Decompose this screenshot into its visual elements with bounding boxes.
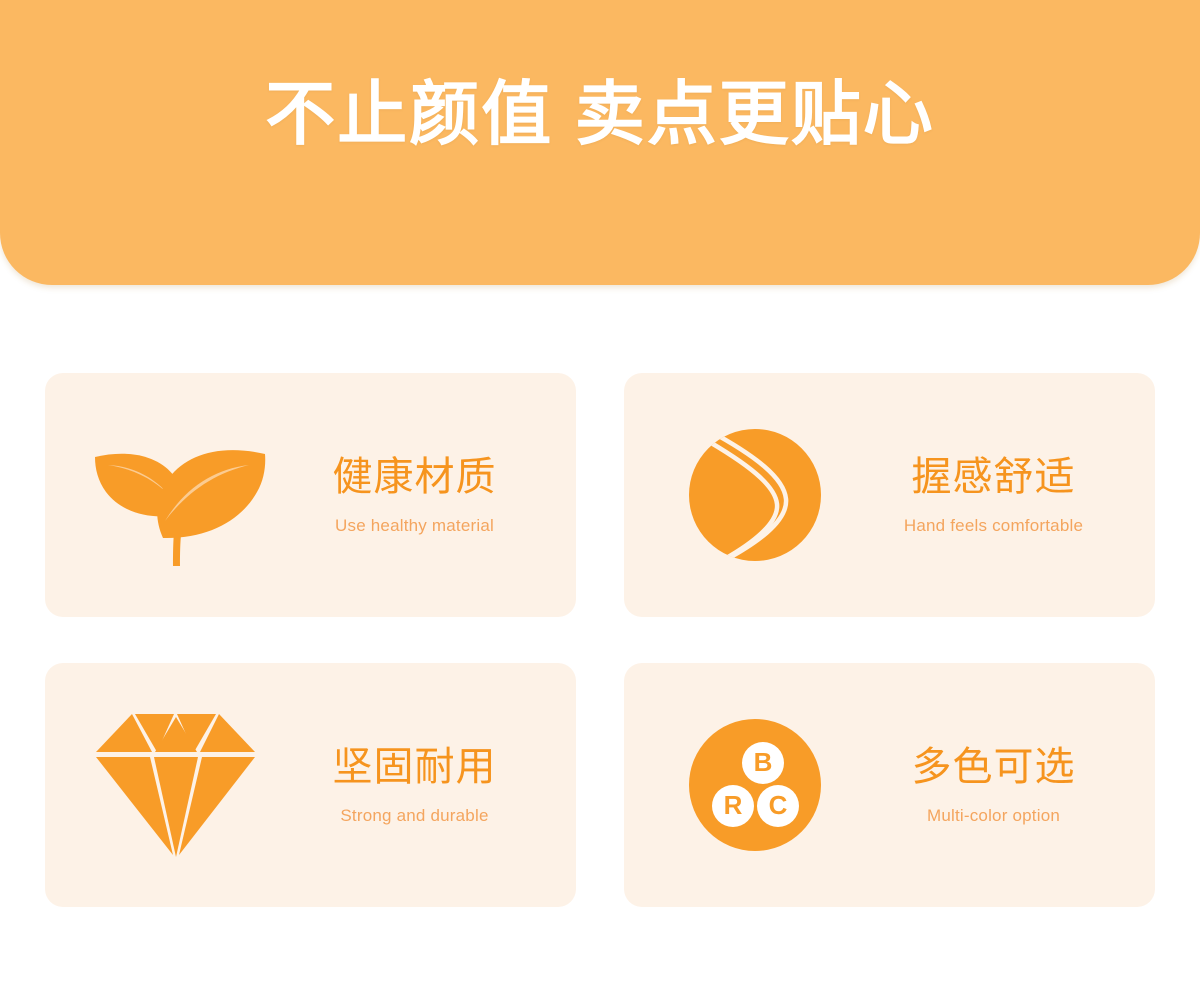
feature-text-block: 坚固耐用 Strong and durable bbox=[271, 744, 576, 825]
feature-text-block: 健康材质 Use healthy material bbox=[271, 454, 576, 535]
feature-card-multicolor[interactable]: B R C 多色可选 Multi-color option bbox=[624, 663, 1155, 907]
feature-subtitle: Hand feels comfortable bbox=[904, 516, 1083, 536]
feature-subtitle: Multi-color option bbox=[927, 806, 1060, 826]
feature-card-healthy-material[interactable]: 健康材质 Use healthy material bbox=[45, 373, 576, 617]
feature-text-block: 握感舒适 Hand feels comfortable bbox=[850, 454, 1155, 535]
feature-card-grid: 健康材质 Use healthy material bbox=[45, 373, 1155, 907]
feature-title: 健康材质 bbox=[333, 454, 497, 501]
grip-circle-icon bbox=[660, 415, 850, 575]
color-options-icon: B R C bbox=[660, 705, 850, 865]
swatch-letter-c: C bbox=[769, 790, 788, 820]
swatch-letter-r: R bbox=[724, 790, 743, 820]
product-feature-page: 不止颜值 卖点更贴心 bbox=[0, 0, 1200, 996]
feature-title: 多色可选 bbox=[912, 744, 1076, 791]
feature-subtitle: Strong and durable bbox=[340, 806, 488, 826]
leaf-icon bbox=[81, 415, 271, 575]
feature-text-block: 多色可选 Multi-color option bbox=[850, 744, 1155, 825]
diamond-icon bbox=[81, 705, 271, 865]
header-banner: 不止颜值 卖点更贴心 bbox=[0, 0, 1200, 285]
swatch-letter-b: B bbox=[754, 747, 773, 777]
page-title: 不止颜值 卖点更贴心 bbox=[265, 78, 934, 152]
feature-subtitle: Use healthy material bbox=[335, 516, 494, 536]
feature-title: 握感舒适 bbox=[912, 454, 1076, 501]
feature-title: 坚固耐用 bbox=[333, 744, 497, 791]
feature-card-durable[interactable]: 坚固耐用 Strong and durable bbox=[45, 663, 576, 907]
feature-card-hand-comfort[interactable]: 握感舒适 Hand feels comfortable bbox=[624, 373, 1155, 617]
